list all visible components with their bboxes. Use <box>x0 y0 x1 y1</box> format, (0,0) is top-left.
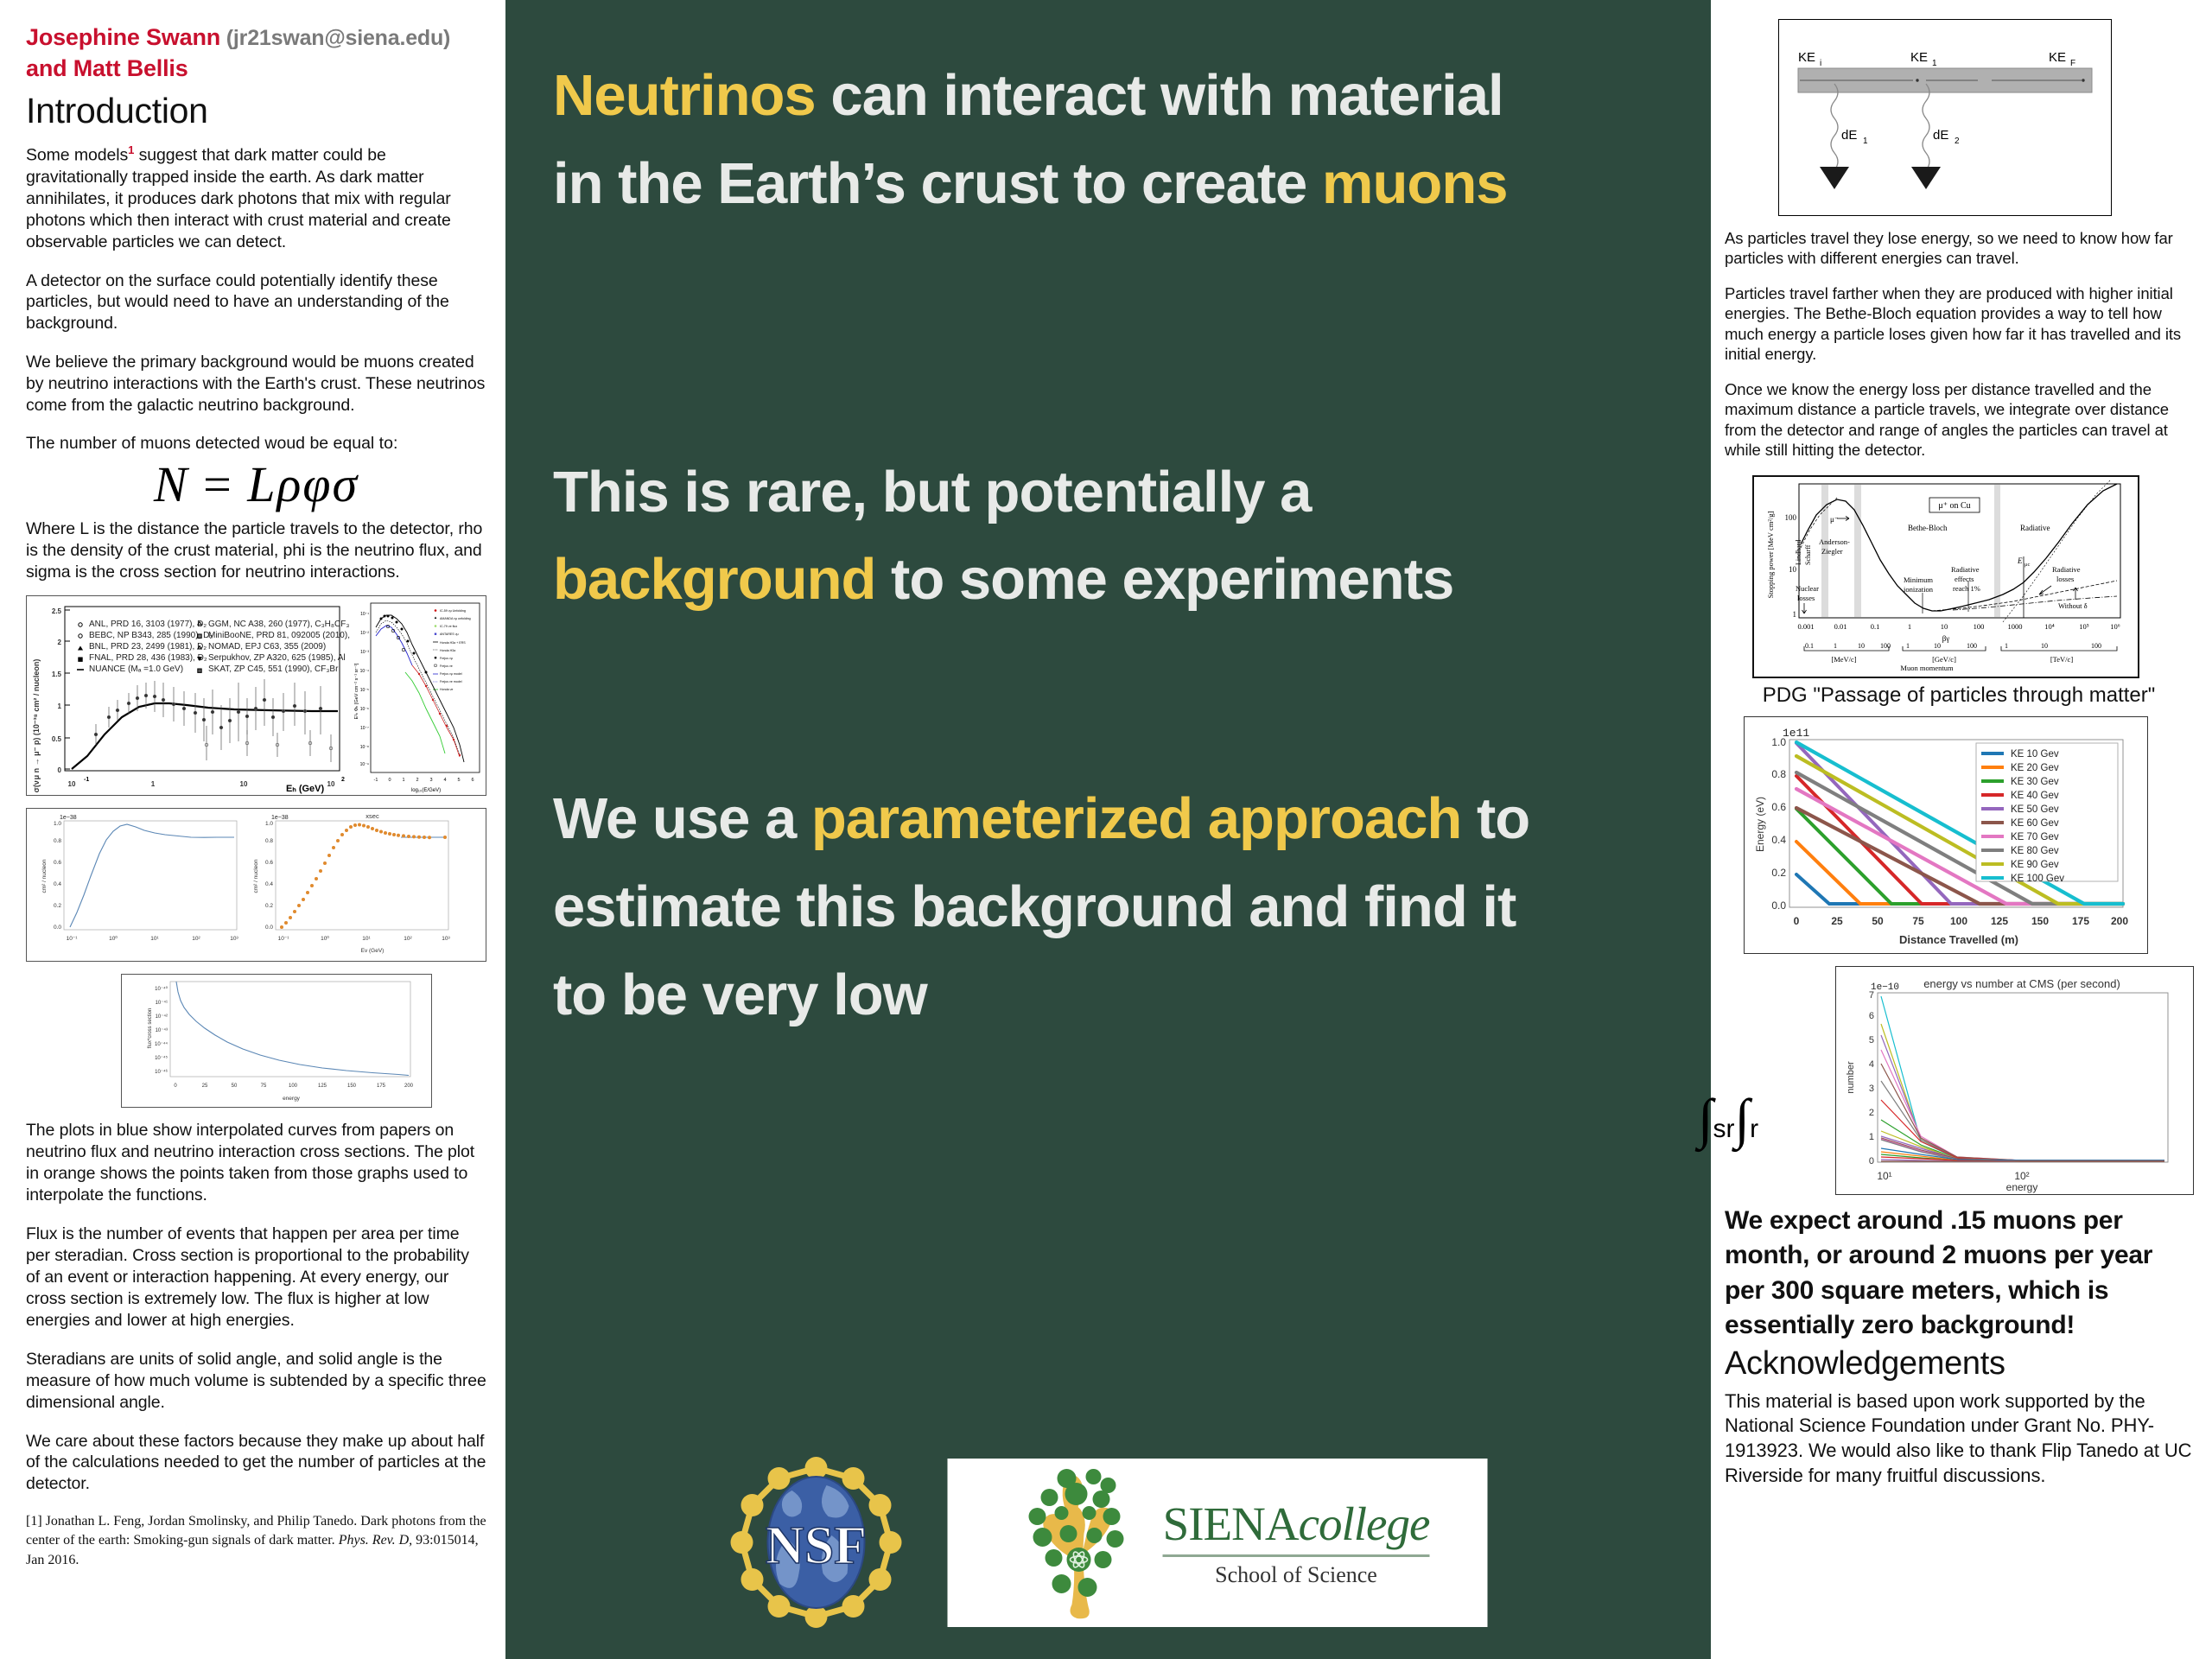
svg-text:100: 100 <box>289 1084 298 1089</box>
svg-text:10⁻⁹: 10⁻⁹ <box>360 762 369 767</box>
headline-3-line2: estimate this background and find it <box>553 874 1516 939</box>
svg-text:ANTARES νμ: ANTARES νμ <box>440 632 459 636</box>
svg-text:0.1: 0.1 <box>1871 622 1880 631</box>
energy-vs-number-chart: 1e−10 energy vs number at CMS (per secon… <box>1836 967 2192 1193</box>
svg-text:KE 70 Gev: KE 70 Gev <box>2011 832 2059 842</box>
svg-text:10⁻⁵: 10⁻⁵ <box>360 688 369 693</box>
logo-row: NSF <box>729 1456 1487 1629</box>
headline-2-highlight: background <box>553 547 875 612</box>
svg-text:75: 75 <box>1912 915 1924 927</box>
published-plots-figure: 00.51 1.522.5 1011010 -12 σ(ν μ n → μ⁻ p… <box>26 595 486 796</box>
factors-explanation: We care about these factors because they… <box>26 1431 486 1496</box>
svg-text:Nuclear: Nuclear <box>1796 584 1819 593</box>
svg-text:10⁵: 10⁵ <box>2079 622 2089 631</box>
headline-3-b: to <box>1461 786 1529 851</box>
headline-1-rest: can interact with material <box>816 63 1503 128</box>
svg-text:10²: 10² <box>2014 1170 2029 1182</box>
svg-text:Radiative: Radiative <box>2052 565 2081 574</box>
svg-text:μc: μc <box>2024 562 2030 568</box>
siena-wordmark: SIENAcollege School of Science <box>1163 1497 1430 1588</box>
svg-text:Frejus νe: Frejus νe <box>440 664 453 668</box>
neutrino-flux-chart: E²ₕ Φₕ [GeV cm⁻² s⁻¹ sr⁻¹] 10⁻¹10⁻²10⁻³ … <box>350 596 486 794</box>
svg-text:losses: losses <box>1797 594 1815 602</box>
svg-text:10⁻⁴⁵: 10⁻⁴⁵ <box>155 1055 168 1061</box>
svg-text:10⁴: 10⁴ <box>2044 622 2055 631</box>
svg-text:1: 1 <box>1793 610 1797 619</box>
svg-text:μ⁺ on Cu: μ⁺ on Cu <box>1938 501 1970 511</box>
svg-text:0: 0 <box>1794 915 1800 927</box>
svg-text:10⁻⁷: 10⁻⁷ <box>360 726 369 731</box>
svg-text:10⁻¹: 10⁻¹ <box>360 612 369 617</box>
svg-text:1.0: 1.0 <box>265 821 273 827</box>
svg-text:10⁻⁴: 10⁻⁴ <box>360 669 369 674</box>
svg-text:150: 150 <box>2031 915 2049 927</box>
svg-text:ANL, PRD 16, 3103 (1977), D₂: ANL, PRD 16, 3103 (1977), D₂ <box>89 620 207 629</box>
siena-wordmark-line1: SIENAcollege <box>1163 1497 1430 1551</box>
svg-text:Radiative: Radiative <box>1951 565 1980 574</box>
flux-explanation: Flux is the number of events that happen… <box>26 1224 486 1332</box>
svg-text:100: 100 <box>1967 642 1977 650</box>
energy-vs-distance-figure: 1e11 0.00.20.4 0.60.81.0 02550 75100125 … <box>1744 716 2148 954</box>
svg-text:Bethe-Bloch: Bethe-Bloch <box>1908 524 1948 532</box>
svg-text:25: 25 <box>1831 915 1843 927</box>
headline-3-a: We use a <box>553 786 811 851</box>
svg-text:2: 2 <box>1955 137 1960 146</box>
svg-text:Frejus νμ: Frejus νμ <box>440 657 453 660</box>
svg-text:10³: 10³ <box>230 936 238 942</box>
author-line-1: Josephine Swann (jr21swan@siena.edu) <box>26 22 486 54</box>
svg-text:50: 50 <box>1872 915 1884 927</box>
headline-block-3: We use a parameterized approach to estim… <box>553 775 1659 1039</box>
svg-text:5: 5 <box>1869 1035 1874 1046</box>
interpolated-plots-figure: 1e−38 0.00.20.4 0.60.81.0 10⁻¹10⁰10¹ 10²… <box>26 808 486 962</box>
svg-text:0.4: 0.4 <box>1771 834 1786 846</box>
energy-loss-diagram-figure: KEi KE1 KEF dE1 dE2 <box>1778 19 2112 216</box>
center-column: Neutrinos can interact with material in … <box>505 0 1711 1659</box>
svg-text:IC-79 νe flux: IC-79 νe flux <box>440 625 457 628</box>
svg-text:1e11: 1e11 <box>1783 727 1809 740</box>
svg-text:2: 2 <box>58 639 62 646</box>
figures-explanation: The plots in blue show interpolated curv… <box>26 1120 486 1206</box>
energy-vs-distance-chart: 1e11 0.00.20.4 0.60.81.0 02550 75100125 … <box>1745 717 2146 952</box>
svg-text:1: 1 <box>1906 642 1910 650</box>
svg-text:10⁻⁴¹: 10⁻⁴¹ <box>156 1000 168 1006</box>
svg-text:1: 1 <box>1908 622 1911 631</box>
svg-text:10: 10 <box>1941 622 1948 631</box>
svg-text:4: 4 <box>443 778 446 783</box>
svg-text:GGM, NC A38, 260 (1977), C₃H₈C: GGM, NC A38, 260 (1977), C₃H₈CF₃Br <box>208 620 350 629</box>
svg-text:150: 150 <box>347 1084 357 1089</box>
headline-block-2: This is rare, but potentially a backgrou… <box>553 448 1659 625</box>
svg-text:Energy (eV): Energy (eV) <box>1754 797 1766 852</box>
svg-text:KE 40 Gev: KE 40 Gev <box>2011 791 2059 801</box>
svg-text:100: 100 <box>2091 642 2101 650</box>
svg-text:10⁻⁴²: 10⁻⁴² <box>156 1014 168 1020</box>
svg-text:25: 25 <box>202 1084 208 1089</box>
author-name: Josephine Swann <box>26 24 220 50</box>
de-2-label: dE <box>1933 128 1948 143</box>
svg-text:KE 80 Gev: KE 80 Gev <box>2011 846 2059 856</box>
integral-glyph-1: ∫ <box>1698 1088 1713 1149</box>
svg-text:10: 10 <box>1934 642 1941 650</box>
svg-text:10: 10 <box>240 780 248 788</box>
svg-text:NOMAD, EPJ C63, 355 (2009): NOMAD, EPJ C63, 355 (2009) <box>208 642 326 652</box>
integral-sub-sr: sr <box>1713 1115 1735 1143</box>
svg-text:1.0: 1.0 <box>54 821 61 827</box>
svg-text:0.0: 0.0 <box>265 925 273 931</box>
svg-text:1.0: 1.0 <box>1771 736 1786 748</box>
svg-text:1: 1 <box>1863 137 1868 146</box>
svg-text:1e−38: 1e−38 <box>271 815 289 821</box>
svg-text:10²: 10² <box>404 936 412 942</box>
svg-text:0.4: 0.4 <box>265 881 273 887</box>
svg-text:10¹: 10¹ <box>150 936 159 942</box>
energy-vs-number-figure: 1e−10 energy vs number at CMS (per secon… <box>1835 966 2194 1195</box>
equation-intro-text: The number of muons detected woud be equ… <box>26 434 486 454</box>
svg-text:KE 60 Gev: KE 60 Gev <box>2011 818 2059 829</box>
svg-text:effects: effects <box>1955 575 1974 583</box>
reference-journal: Phys. Rev. D, <box>339 1533 412 1548</box>
svg-text:200: 200 <box>404 1084 414 1089</box>
svg-text:10³: 10³ <box>442 936 450 942</box>
pdg-stopping-power-chart: 110100 Stopping power [MeV cm²/g] 0.0010… <box>1754 477 2138 677</box>
svg-text:1e−10: 1e−10 <box>1871 982 1899 993</box>
svg-text:1: 1 <box>1834 642 1837 650</box>
svg-text:10⁻⁴⁴: 10⁻⁴⁴ <box>155 1041 168 1047</box>
nsf-logo: NSF <box>729 1456 902 1629</box>
svg-text:0.01: 0.01 <box>1834 622 1847 631</box>
interpolated-xsec-charts: 1e−38 0.00.20.4 0.60.81.0 10⁻¹10⁰10¹ 10²… <box>27 809 485 960</box>
svg-text:2: 2 <box>416 778 418 783</box>
svg-text:Honda νe: Honda νe <box>440 688 453 691</box>
svg-text:Anderson-: Anderson- <box>1819 537 1850 546</box>
svg-text:0.0: 0.0 <box>54 925 61 931</box>
svg-text:10⁻⁶: 10⁻⁶ <box>360 707 369 712</box>
svg-text:10⁻¹: 10⁻¹ <box>67 936 79 942</box>
svg-text:1: 1 <box>2005 642 2008 650</box>
svg-text:10⁻¹: 10⁻¹ <box>278 936 290 942</box>
svg-text:ionization: ionization <box>1904 585 1934 594</box>
svg-text:1: 1 <box>58 702 62 710</box>
svg-text:50: 50 <box>232 1084 238 1089</box>
svg-text:energy vs number at CMS (per s: energy vs number at CMS (per second) <box>1923 977 2120 990</box>
svg-text:MiniBooNE, PRD 81, 092005 (201: MiniBooNE, PRD 81, 092005 (2010), C <box>208 631 350 640</box>
svg-text:energy: energy <box>2006 1181 2038 1193</box>
svg-text:number: number <box>1846 1061 1856 1094</box>
svg-text:3: 3 <box>1869 1084 1874 1094</box>
svg-text:Honda H3a + ERS: Honda H3a + ERS <box>440 641 466 645</box>
svg-text:Honda H3a: Honda H3a <box>440 649 455 652</box>
svg-text:σ(ν μ n → μ⁻ p) (10⁻³⁸ cm² / n: σ(ν μ n → μ⁻ p) (10⁻³⁸ cm² / nucleon) <box>32 659 41 793</box>
svg-text:KE 90 Gev: KE 90 Gev <box>2011 860 2059 870</box>
svg-text:4: 4 <box>1869 1059 1874 1070</box>
introduction-heading: Introduction <box>26 91 486 131</box>
svg-text:100: 100 <box>1974 622 1985 631</box>
svg-text:0.6: 0.6 <box>1771 801 1786 813</box>
siena-college-logo: SIENAcollege School of Science <box>947 1459 1487 1627</box>
svg-text:Distance Travelled (m): Distance Travelled (m) <box>1899 933 2018 946</box>
siena-school-label: School of Science <box>1163 1562 1430 1588</box>
svg-text:75: 75 <box>261 1084 267 1089</box>
conclusion-text: We expect around .15 muons per month, or… <box>1725 1204 2193 1344</box>
svg-text:KE 100 Gev: KE 100 Gev <box>2011 874 2064 884</box>
svg-text:Eₕ (GeV): Eₕ (GeV) <box>286 784 325 794</box>
intro-paragraph-2: A detector on the surface could potentia… <box>26 270 486 335</box>
acknowledgements-text: This material is based upon work support… <box>1725 1389 2193 1488</box>
svg-text:F: F <box>2070 59 2075 68</box>
svg-text:10⁻⁸: 10⁻⁸ <box>360 745 369 750</box>
svg-text:Lindhard-: Lindhard- <box>1795 537 1802 565</box>
svg-text:[TeV/c]: [TeV/c] <box>2050 655 2073 664</box>
svg-text:KE 50 Gev: KE 50 Gev <box>2011 804 2059 815</box>
svg-text:i: i <box>1820 59 1821 68</box>
svg-text:10⁻⁴³: 10⁻⁴³ <box>156 1027 168 1033</box>
svg-text:10: 10 <box>327 780 335 788</box>
svg-text:FNAL, PRD 28, 436 (1983), D₂: FNAL, PRD 28, 436 (1983), D₂ <box>89 653 207 663</box>
right-column: KEi KE1 KEF dE1 dE2 <box>1711 0 2212 1659</box>
svg-text:10¹: 10¹ <box>1877 1170 1891 1182</box>
svg-text:175: 175 <box>377 1084 386 1089</box>
svg-text:10²: 10² <box>192 936 200 942</box>
svg-text:Ev (GeV): Ev (GeV) <box>361 948 385 954</box>
svg-text:125: 125 <box>318 1084 327 1089</box>
reference-marker: [1] <box>26 1514 42 1529</box>
svg-text:0: 0 <box>58 766 62 774</box>
svg-text:0: 0 <box>1869 1156 1874 1166</box>
svg-text:5: 5 <box>457 778 460 783</box>
svg-text:Stopping power [MeV cm²/g]: Stopping power [MeV cm²/g] <box>1766 511 1775 598</box>
svg-text:Frejus νμ model: Frejus νμ model <box>440 672 462 676</box>
svg-text:10⁻⁴⁶: 10⁻⁴⁶ <box>155 1069 168 1075</box>
svg-text:10⁶: 10⁶ <box>2110 622 2120 631</box>
muon-count-equation: N = Lρφσ <box>26 455 486 513</box>
svg-text:100: 100 <box>1880 642 1891 650</box>
svg-text:100: 100 <box>1950 915 1967 927</box>
integral-symbol: ∫sr∫r <box>1698 1087 1758 1151</box>
headline-1-line2-highlight: muons <box>1322 151 1508 216</box>
svg-text:Scharff: Scharff <box>1804 544 1812 565</box>
intro-paragraph-3: We believe the primary background would … <box>26 352 486 416</box>
svg-text:Frejus νe model: Frejus νe model <box>440 680 462 683</box>
svg-text:AMANDA νμ unfolding: AMANDA νμ unfolding <box>440 617 471 620</box>
siena-word: SIENA <box>1163 1497 1299 1550</box>
svg-text:0.2: 0.2 <box>265 903 273 909</box>
headline-1-line2: in the Earth’s crust to create <box>553 151 1322 216</box>
xsec-published-chart: 00.51 1.522.5 1011010 -12 σ(ν μ n → μ⁻ p… <box>27 596 350 794</box>
svg-text:10: 10 <box>2041 642 2048 650</box>
svg-text:Muon momentum: Muon momentum <box>1900 664 1954 672</box>
svg-text:E: E <box>2017 556 2023 565</box>
flux-times-xsec-figure: 10⁻⁴⁰10⁻⁴¹10⁻⁴² 10⁻⁴³10⁻⁴⁴10⁻⁴⁵ 10⁻⁴⁶ 02… <box>121 974 432 1108</box>
svg-text:xsec: xsec <box>365 812 379 820</box>
nsf-logo-text: NSF <box>765 1516 866 1575</box>
svg-text:-1: -1 <box>84 777 89 783</box>
bethe-bloch-paragraph: Particles travel farther when they are p… <box>1725 283 2193 365</box>
integration-paragraph: Once we know the energy loss per distanc… <box>1725 379 2193 461</box>
headline-2-line1: This is rare, but potentially a <box>553 460 1311 524</box>
college-word: college <box>1299 1497 1430 1550</box>
svg-text:Radiative: Radiative <box>2020 524 2050 532</box>
svg-text:KE 20 Gev: KE 20 Gev <box>2011 763 2059 773</box>
svg-text:μ⁻: μ⁻ <box>1830 515 1839 524</box>
energy-loss-paragraph-1: As particles travel they lose energy, so… <box>1725 228 2193 269</box>
svg-text:SKAT, ZP C45, 551 (1990), CF₃B: SKAT, ZP C45, 551 (1990), CF₃Br <box>208 664 339 674</box>
svg-text:KE 30 Gev: KE 30 Gev <box>2011 777 2059 787</box>
svg-text:Minimum: Minimum <box>1904 575 1933 584</box>
svg-text:200: 200 <box>2111 915 2128 927</box>
headline-3-highlight: parameterized approach <box>811 786 1462 851</box>
headline-block-1: Neutrinos can interact with material in … <box>553 52 1659 228</box>
svg-text:6: 6 <box>471 778 474 783</box>
flux-times-xsec-chart: 10⁻⁴⁰10⁻⁴¹10⁻⁴² 10⁻⁴³10⁻⁴⁴10⁻⁴⁵ 10⁻⁴⁶ 02… <box>122 975 430 1106</box>
svg-text:1000: 1000 <box>2008 622 2023 631</box>
intro-p1-a: Some models <box>26 146 128 165</box>
svg-text:losses: losses <box>2056 575 2074 583</box>
svg-text:3: 3 <box>429 778 432 783</box>
svg-text:KE 10 Gev: KE 10 Gev <box>2011 749 2059 760</box>
svg-text:10⁻⁴⁰: 10⁻⁴⁰ <box>155 986 168 992</box>
ke-i-label: KE <box>1798 50 1815 65</box>
svg-text:E²ₕ Φₕ [GeV cm⁻² s⁻¹ sr⁻¹]: E²ₕ Φₕ [GeV cm⁻² s⁻¹ sr⁻¹] <box>354 663 359 719</box>
svg-text:log₁₀(E/GeV): log₁₀(E/GeV) <box>411 788 441 793</box>
authors-block: Josephine Swann (jr21swan@siena.edu) and… <box>26 22 486 84</box>
siena-logo-rule <box>1163 1554 1430 1557</box>
svg-text:1e−38: 1e−38 <box>60 815 77 821</box>
svg-text:0.0: 0.0 <box>1771 899 1786 912</box>
headline-1-highlight: Neutrinos <box>553 63 816 128</box>
svg-text:0: 0 <box>388 778 391 783</box>
svg-text:[GeV/c]: [GeV/c] <box>1932 655 1956 664</box>
svg-text:10: 10 <box>1858 642 1865 650</box>
svg-text:Without δ: Without δ <box>2058 601 2088 610</box>
svg-text:0.8: 0.8 <box>1771 768 1786 780</box>
svg-text:0.6: 0.6 <box>265 860 273 866</box>
svg-text:175: 175 <box>2072 915 2089 927</box>
equation-explanation: Where L is the distance the particle tra… <box>26 518 486 583</box>
poster-root: Josephine Swann (jr21swan@siena.edu) and… <box>0 0 2212 1659</box>
intro-paragraph-1: Some models1 suggest that dark matter co… <box>26 143 486 252</box>
svg-text:10: 10 <box>68 780 76 788</box>
svg-text:0.5: 0.5 <box>52 735 62 743</box>
author-email[interactable]: (jr21swan@siena.edu) <box>220 26 450 50</box>
svg-text:10⁻³: 10⁻³ <box>360 650 369 655</box>
svg-text:βγ: βγ <box>1942 634 1950 643</box>
de-1-label: dE <box>1841 128 1857 143</box>
ke-1-label: KE <box>1910 50 1928 65</box>
svg-text:10⁰: 10⁰ <box>109 935 118 942</box>
svg-text:0.8: 0.8 <box>54 838 61 844</box>
integral-sub-r: r <box>1750 1115 1758 1143</box>
headline-2-rest: to some experiments <box>875 547 1453 612</box>
left-column: Josephine Swann (jr21swan@siena.edu) and… <box>0 0 505 1659</box>
svg-text:Ziegler: Ziegler <box>1821 547 1843 556</box>
svg-text:-1: -1 <box>374 778 378 783</box>
svg-text:NUANCE (Mₐ =1.0 GeV): NUANCE (Mₐ =1.0 GeV) <box>89 664 183 674</box>
ke-f-label: KE <box>2049 50 2066 65</box>
svg-text:1.5: 1.5 <box>52 671 62 678</box>
svg-text:cm² / nucleon: cm² / nucleon <box>41 859 48 893</box>
svg-text:0.6: 0.6 <box>54 860 61 866</box>
svg-text:10⁻²: 10⁻² <box>360 631 369 636</box>
svg-text:1: 1 <box>402 778 404 783</box>
svg-text:1: 1 <box>1932 59 1937 68</box>
svg-text:6: 6 <box>1869 1011 1874 1021</box>
svg-text:IC-59 νμ Unfolding: IC-59 νμ Unfolding <box>440 609 466 613</box>
svg-text:2.5: 2.5 <box>52 607 62 615</box>
svg-text:2: 2 <box>1869 1108 1874 1118</box>
svg-text:0.1: 0.1 <box>1805 642 1814 650</box>
svg-text:125: 125 <box>1991 915 2008 927</box>
svg-text:0.4: 0.4 <box>54 881 61 887</box>
svg-text:10⁰: 10⁰ <box>321 935 329 942</box>
svg-text:1: 1 <box>1869 1132 1874 1142</box>
acknowledgements-heading: Acknowledgements <box>1725 1345 2193 1382</box>
svg-text:7: 7 <box>1869 990 1874 1001</box>
svg-text:2: 2 <box>341 777 345 783</box>
pdg-caption: PDG "Passage of particles through matter… <box>1725 683 2193 708</box>
svg-text:BNL, PRD 23, 2499 (1981), D₂: BNL, PRD 23, 2499 (1981), D₂ <box>89 642 207 652</box>
pdg-stopping-power-figure: 110100 Stopping power [MeV cm²/g] 0.0010… <box>1752 475 2139 678</box>
svg-text:[MeV/c]: [MeV/c] <box>1831 655 1856 664</box>
svg-text:0.001: 0.001 <box>1797 622 1814 631</box>
siena-tree-icon <box>1005 1463 1156 1623</box>
svg-text:0.2: 0.2 <box>54 903 61 909</box>
steradian-explanation: Steradians are units of solid angle, and… <box>26 1349 486 1414</box>
svg-text:reach 1%: reach 1% <box>1953 584 1980 593</box>
energy-loss-diagram: KEi KE1 KEF dE1 dE2 <box>1779 20 2110 214</box>
svg-text:energy: energy <box>283 1096 301 1102</box>
svg-text:0.8: 0.8 <box>265 838 273 844</box>
svg-text:cm² / nucleon: cm² / nucleon <box>253 859 259 893</box>
svg-text:BEBC, NP B343, 285 (1990), D₂: BEBC, NP B343, 285 (1990), D₂ <box>89 631 213 640</box>
reference-authors: Jonathan L. Feng, Jordan Smolinsky, and … <box>46 1514 358 1529</box>
svg-text:Serpukhov, ZP A320, 625 (1985): Serpukhov, ZP A320, 625 (1985), Al <box>208 653 346 663</box>
svg-text:0.2: 0.2 <box>1771 867 1786 879</box>
svg-text:10¹: 10¹ <box>362 936 371 942</box>
headline-3-line3: to be very low <box>553 963 927 1027</box>
integral-glyph-2: ∫ <box>1735 1088 1751 1149</box>
svg-text:10: 10 <box>1789 565 1797 574</box>
reference-entry: [1] Jonathan L. Feng, Jordan Smolinsky, … <box>26 1512 486 1569</box>
author-line-2: and Matt Bellis <box>26 54 486 85</box>
svg-text:100: 100 <box>1785 513 1797 522</box>
svg-text:flux*cross section: flux*cross section <box>148 1008 153 1049</box>
svg-text:1: 1 <box>151 780 156 788</box>
